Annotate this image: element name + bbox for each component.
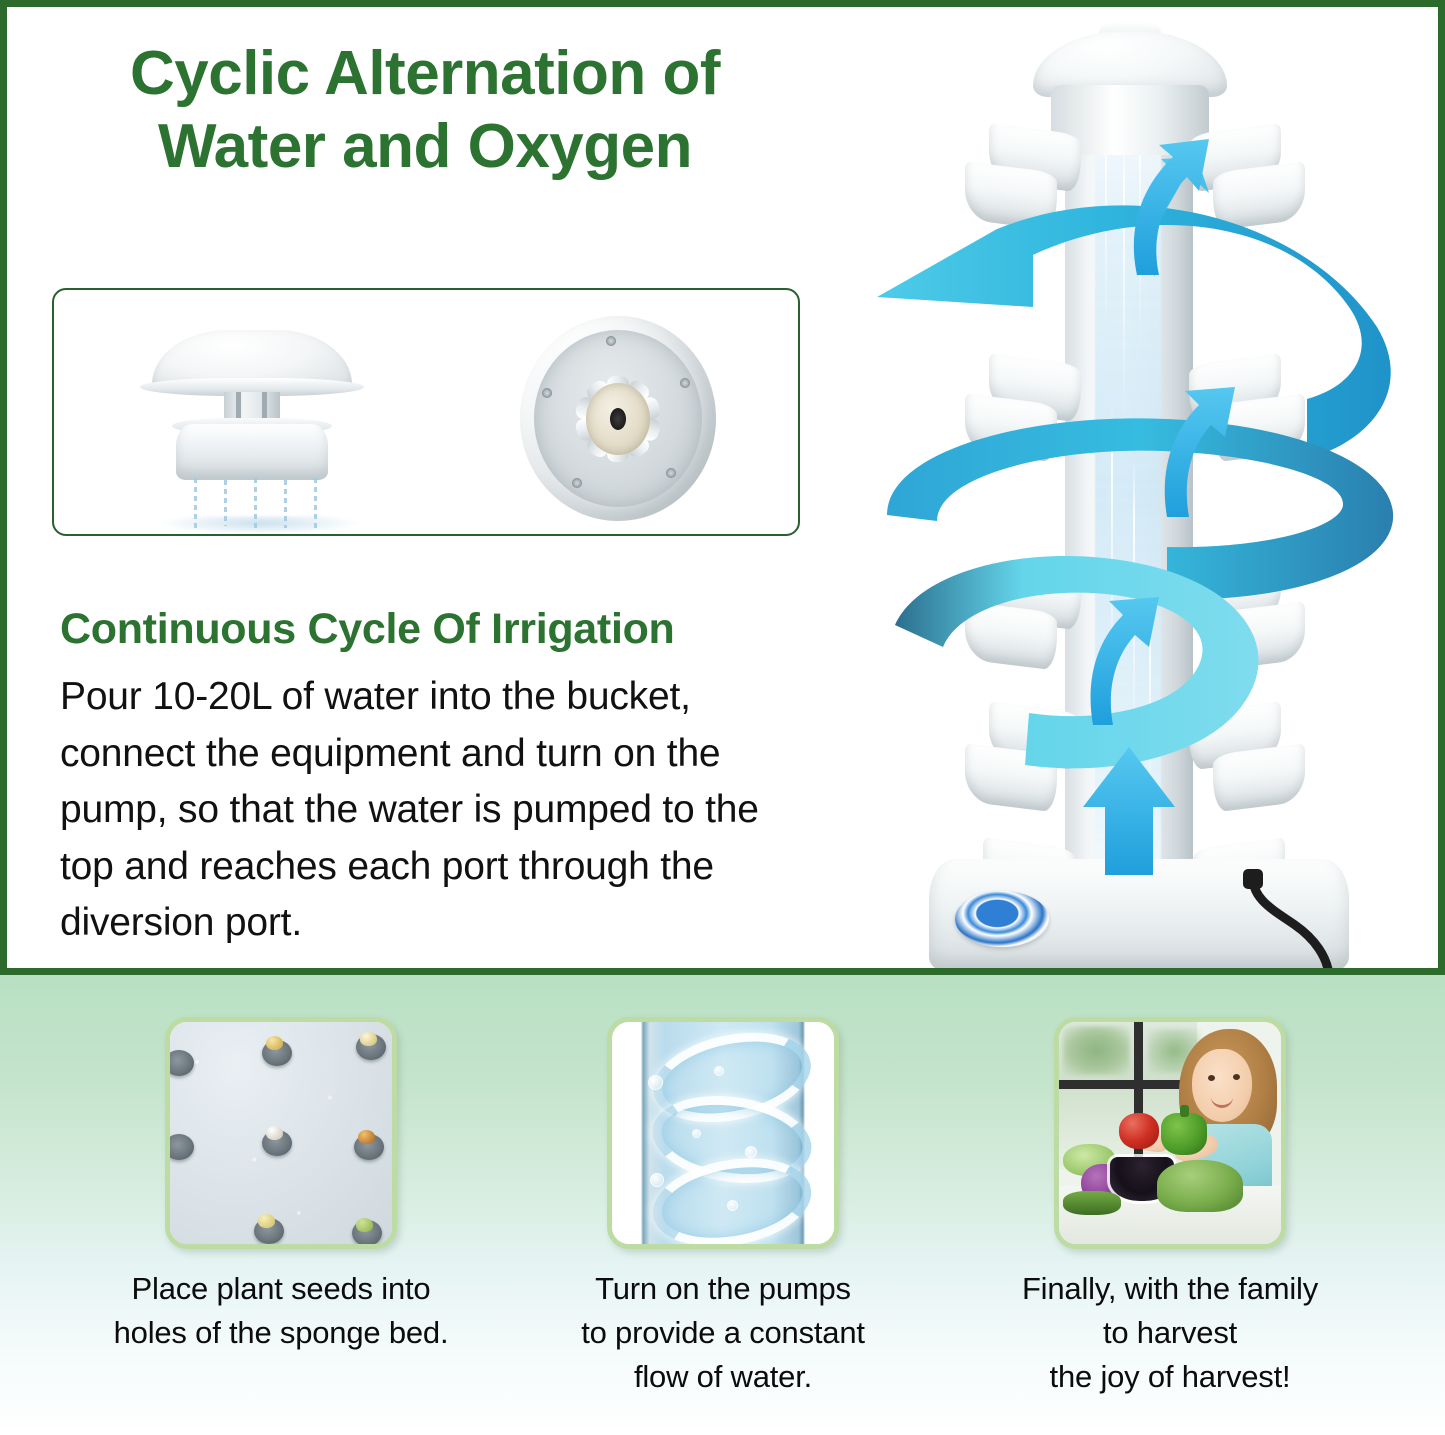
planting-cup bbox=[1213, 743, 1305, 812]
girl-smile bbox=[1211, 1095, 1233, 1108]
port-center-hole bbox=[610, 408, 626, 430]
water-streak bbox=[1111, 407, 1113, 707]
section-paragraph: Pour 10-20L of water into the bucket, co… bbox=[60, 669, 790, 952]
family-harvest-image bbox=[1059, 1022, 1281, 1244]
girl-face bbox=[1192, 1049, 1252, 1122]
page-title: Cyclic Alternation of Water and Oxygen bbox=[55, 37, 795, 183]
planting-cup bbox=[1213, 161, 1305, 230]
sprinkler-body bbox=[176, 424, 328, 480]
caption-line: Finally, with the family bbox=[935, 1267, 1405, 1311]
sprinkler-head-icon bbox=[132, 320, 372, 520]
sprouting-seed bbox=[266, 1126, 283, 1140]
port-screw bbox=[542, 388, 552, 398]
water-bubble bbox=[648, 1075, 663, 1090]
water-mist bbox=[160, 516, 360, 534]
port-screw bbox=[666, 468, 676, 478]
sponge-bed-thumbnail bbox=[165, 1017, 397, 1249]
step-caption: Place plant seeds into holes of the spon… bbox=[46, 1267, 516, 1355]
steps-row: Place plant seeds into holes of the spon… bbox=[0, 975, 1445, 1435]
page-title-line-1: Cyclic Alternation of bbox=[55, 37, 795, 110]
water-bubble bbox=[727, 1200, 738, 1211]
sprouting-seed bbox=[258, 1214, 275, 1228]
broccoli bbox=[1157, 1160, 1243, 1212]
caption-line: to harvest bbox=[935, 1311, 1405, 1355]
water-flow-image bbox=[612, 1022, 834, 1244]
sprouting-seed bbox=[266, 1036, 283, 1050]
page-title-line-2: Water and Oxygen bbox=[55, 110, 795, 183]
hydroponic-tower-illustration bbox=[837, 7, 1445, 975]
step-item: Place plant seeds into holes of the spon… bbox=[46, 975, 516, 1355]
port-screw bbox=[680, 378, 690, 388]
seed-hole bbox=[165, 1134, 194, 1160]
water-flow-thumbnail bbox=[607, 1017, 839, 1249]
water-streak bbox=[1149, 567, 1151, 827]
diversion-port-icon bbox=[520, 316, 716, 521]
step-item: Finally, with the family to harvest the … bbox=[935, 975, 1405, 1399]
foliage-blur bbox=[1063, 1026, 1130, 1075]
family-harvest-thumbnail bbox=[1054, 1017, 1286, 1249]
planting-cup bbox=[1213, 393, 1305, 462]
green-bell-pepper bbox=[1161, 1113, 1207, 1155]
planting-cup bbox=[965, 161, 1057, 230]
planting-cup bbox=[1213, 601, 1305, 670]
tomato bbox=[1119, 1113, 1159, 1149]
sprouting-seed bbox=[360, 1032, 377, 1046]
water-streak bbox=[1123, 127, 1125, 427]
bottom-steps-panel: Place plant seeds into holes of the spon… bbox=[0, 975, 1445, 1435]
sprouting-seed bbox=[356, 1218, 373, 1232]
water-bubble bbox=[692, 1129, 701, 1138]
seed-hole bbox=[165, 1050, 194, 1076]
top-panel: Cyclic Alternation of Water and Oxygen bbox=[0, 0, 1445, 975]
planting-cup bbox=[965, 393, 1057, 462]
step-caption: Turn on the pumps to provide a constant … bbox=[488, 1267, 958, 1399]
sponge-bed-image bbox=[170, 1022, 392, 1244]
window-frame-horizontal bbox=[1059, 1080, 1197, 1089]
step-item: Turn on the pumps to provide a constant … bbox=[488, 975, 958, 1399]
sprouting-seed bbox=[358, 1130, 375, 1144]
water-streak bbox=[1133, 457, 1135, 777]
power-cord-icon bbox=[1241, 869, 1345, 975]
caption-line: Turn on the pumps bbox=[488, 1267, 958, 1311]
step-caption: Finally, with the family to harvest the … bbox=[935, 1267, 1405, 1399]
caption-line: flow of water. bbox=[488, 1355, 958, 1399]
girl-eye bbox=[1208, 1075, 1215, 1081]
planting-cup bbox=[965, 601, 1057, 670]
planting-cup bbox=[965, 743, 1057, 812]
port-screw bbox=[572, 478, 582, 488]
port-screw bbox=[606, 336, 616, 346]
girl-eye bbox=[1233, 1074, 1240, 1080]
caption-line: the joy of harvest! bbox=[935, 1355, 1405, 1399]
cucumber bbox=[1063, 1191, 1121, 1215]
caption-line: holes of the sponge bed. bbox=[46, 1311, 516, 1355]
product-detail-inset-box bbox=[52, 288, 800, 536]
caption-line: to provide a constant bbox=[488, 1311, 958, 1355]
coiled-hose-icon bbox=[955, 891, 1049, 947]
section-subheading: Continuous Cycle Of Irrigation bbox=[60, 605, 675, 654]
caption-line: Place plant seeds into bbox=[46, 1267, 516, 1311]
water-bubble bbox=[650, 1173, 664, 1187]
